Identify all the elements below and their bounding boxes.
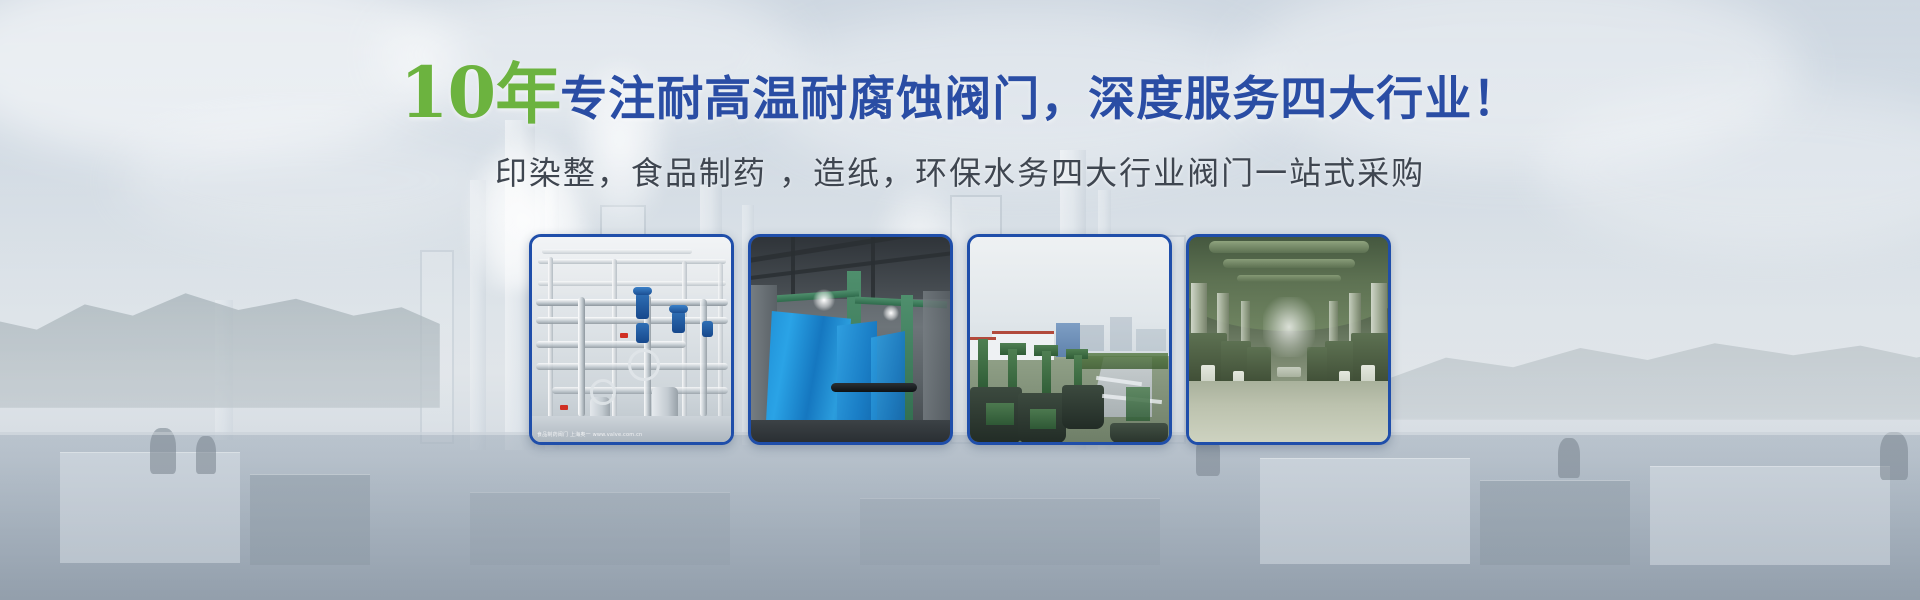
photo-watermark: 食品制药阀门 上海奥一 www.valve.com.cn	[537, 431, 642, 438]
photo-wastewater-treatment-plant	[970, 237, 1169, 442]
industry-card-environmental-water[interactable]	[967, 234, 1172, 445]
industry-card-food-pharma[interactable]: 食品制药阀门 上海奥一 www.valve.com.cn	[529, 234, 734, 445]
industry-card-textile-dyeing[interactable]	[748, 234, 953, 445]
headline: 10年专注耐高温耐腐蚀阀门，深度服务四大行业！	[0, 58, 1920, 128]
photo-textile-dyeing-machine	[751, 237, 950, 442]
banner-copy: 10年专注耐高温耐腐蚀阀门，深度服务四大行业！ 印染整，食品制药 ，造纸，环保水…	[0, 58, 1920, 194]
foreground-ground	[0, 432, 1920, 600]
banner-subtitle: 印染整，食品制药 ，造纸，环保水务四大行业阀门一站式采购	[0, 148, 1920, 194]
promo-banner: 10年专注耐高温耐腐蚀阀门，深度服务四大行业！ 印染整，食品制药 ，造纸，环保水…	[0, 0, 1920, 600]
headline-years-unit: 年	[495, 55, 560, 133]
headline-years: 10年	[400, 55, 560, 133]
industry-card-paper-making[interactable]	[1186, 234, 1391, 445]
headline-years-number: 10	[400, 51, 495, 134]
photo-stainless-piping-skid: 食品制药阀门 上海奥一 www.valve.com.cn	[532, 237, 731, 442]
headline-main-text: 专注耐高温耐腐蚀阀门，深度服务四大行业！	[560, 72, 1520, 127]
photo-paper-mill-pipe-corridor	[1189, 237, 1388, 442]
industry-photo-gallery: 食品制药阀门 上海奥一 www.valve.com.cn	[0, 234, 1920, 446]
